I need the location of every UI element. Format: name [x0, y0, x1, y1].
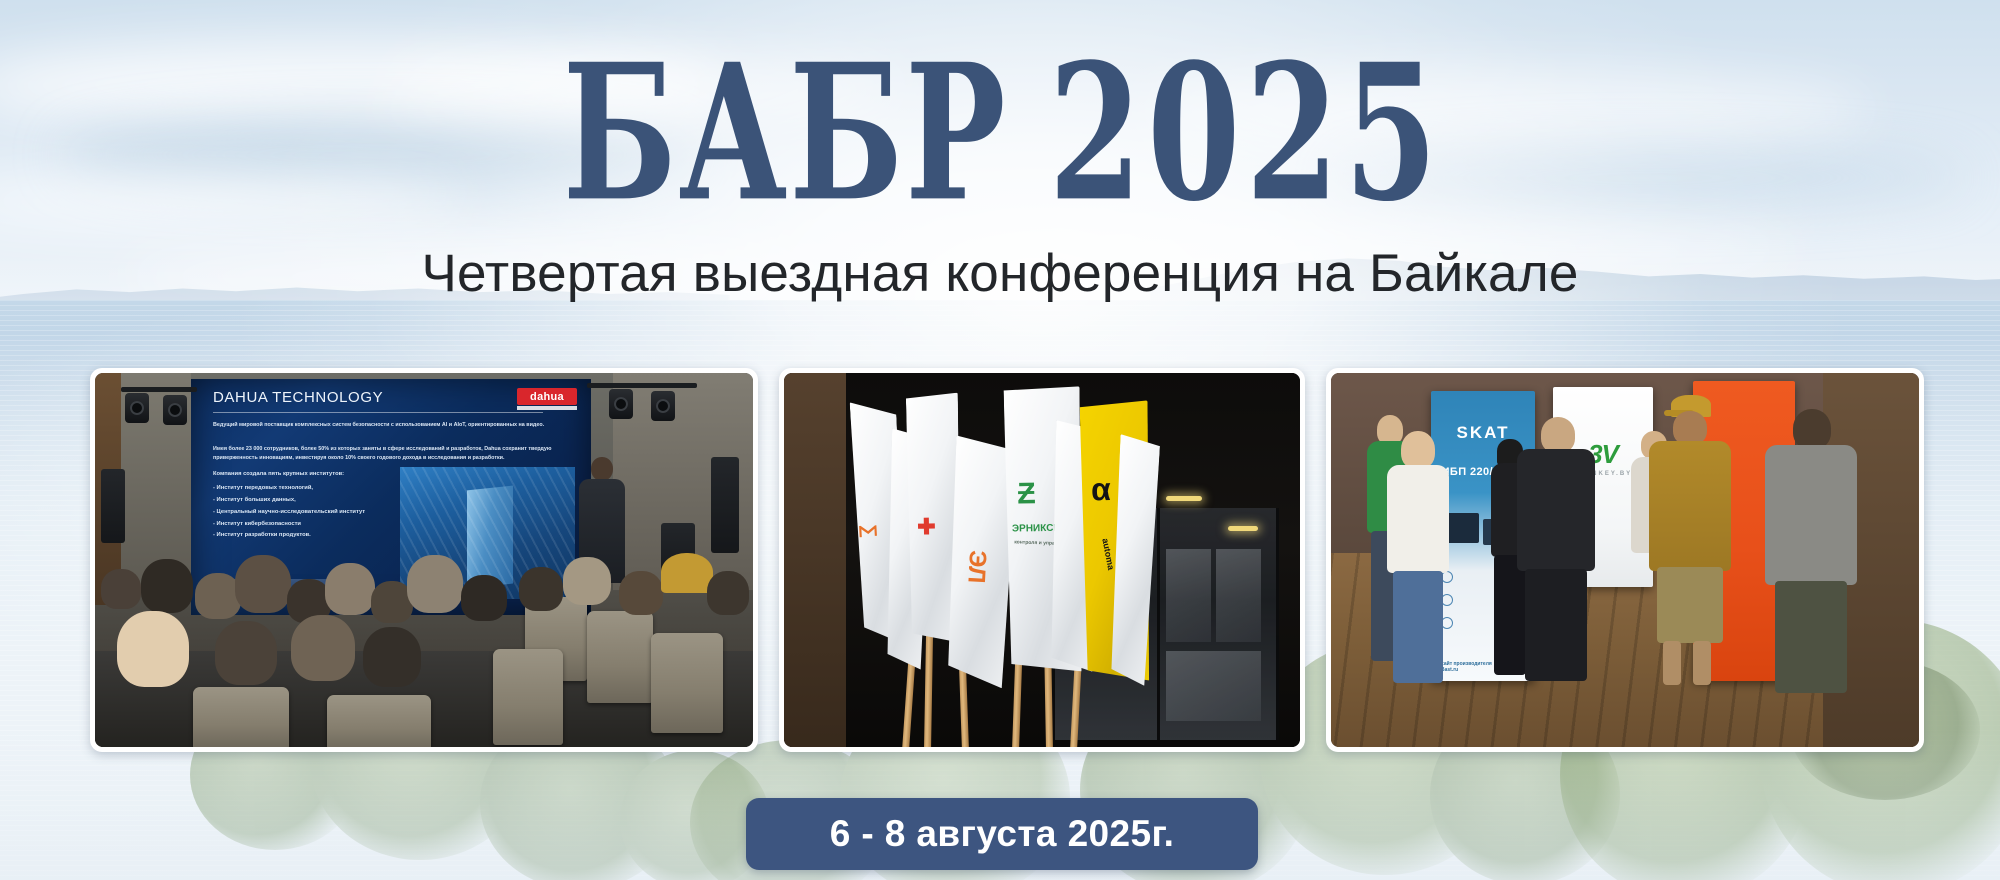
attendee-head [141, 559, 193, 613]
slide-list: Компания создала пять крупных институтов… [213, 469, 388, 542]
attendee-head [563, 557, 611, 605]
ceiling-light [1166, 496, 1202, 501]
event-title-word: БАБР [563, 24, 1008, 243]
event-subtitle: Четвертая выездная конференция на Байкал… [0, 243, 2000, 304]
slide-list-item: - Институт кибербезопасности [213, 519, 388, 531]
flag-logo-mark: ЭЛ [963, 550, 989, 584]
wood-wall [784, 373, 846, 747]
conference-banner: БАБР2025 Четвертая выездная конференция … [0, 0, 2000, 880]
attendee [1517, 417, 1595, 679]
chair [493, 649, 563, 745]
flag-logo-mark: ✚ [914, 517, 936, 536]
slide-paragraph-2: Имея более 23 000 сотрудников, более 50%… [213, 445, 565, 464]
event-date-label: 6 - 8 августа 2025г. [830, 813, 1175, 855]
attendee-head [461, 575, 507, 621]
attendee-head [363, 627, 421, 687]
attendee-head [215, 621, 277, 685]
flag-brand-name: automa [1100, 537, 1116, 570]
flag-logo-mark: ∑ [859, 524, 879, 539]
photo-conference-hall[interactable]: DAHUA TECHNOLOGY dahua Ведущий мировой п… [90, 368, 758, 752]
event-title: БАБР2025 [60, 40, 1940, 227]
slide-divider [213, 412, 543, 413]
dahua-logo: dahua [517, 388, 577, 405]
stage-light [163, 395, 187, 425]
slide-list-heading: Компания создала пять крупных институтов… [213, 469, 388, 481]
attendee-cap [661, 553, 713, 593]
slide-list-item: - Институт передовых технологий, [213, 483, 388, 495]
flag-logo-mark: α [1091, 473, 1111, 505]
slide-heading: DAHUA TECHNOLOGY [213, 389, 383, 406]
attendee-with-cap [1649, 395, 1731, 685]
event-date-badge[interactable]: 6 - 8 августа 2025г. [746, 798, 1258, 870]
light-rig-bar [121, 387, 197, 392]
attendee-head [291, 615, 355, 681]
attendee-head [117, 611, 189, 687]
photo-sponsor-flags[interactable]: ∑ ✚ ЭЛ Ƶ ЭРНИКСЫ 3 контроля и управления… [779, 368, 1305, 752]
ceiling-light [1228, 526, 1258, 531]
attendee-head [235, 555, 291, 613]
chair [327, 695, 431, 747]
attendee-head [407, 555, 463, 613]
chair [651, 633, 723, 733]
attendee-head [325, 563, 375, 615]
attendee [1387, 431, 1449, 679]
slide-paragraph-1: Ведущий мировой поставщик комплексных си… [213, 421, 565, 430]
event-title-year: 2025 [1049, 24, 1443, 243]
photo-expo-networking[interactable]: SKAT ИБП 220/380 В сайт производителяBas… [1326, 368, 1924, 752]
light-rig-bar [587, 383, 697, 388]
attendee [1765, 409, 1857, 689]
chair [587, 611, 653, 703]
chair [193, 687, 289, 747]
stage-light [651, 391, 675, 421]
stage-light [125, 393, 149, 423]
flag-logo-mark: Ƶ [1017, 479, 1036, 509]
attendee-head [519, 567, 563, 611]
slide-list-item: - Институт больших данных, [213, 495, 388, 507]
photo-gallery: DAHUA TECHNOLOGY dahua Ведущий мировой п… [90, 368, 1924, 752]
attendee-head [619, 571, 663, 615]
audience [95, 537, 753, 747]
attendee-head [101, 569, 141, 609]
pa-speaker [101, 469, 125, 543]
slide-list-item: - Центральный научно-исследовательский и… [213, 507, 388, 519]
attendee-head [707, 571, 749, 615]
stage-light [609, 389, 633, 419]
